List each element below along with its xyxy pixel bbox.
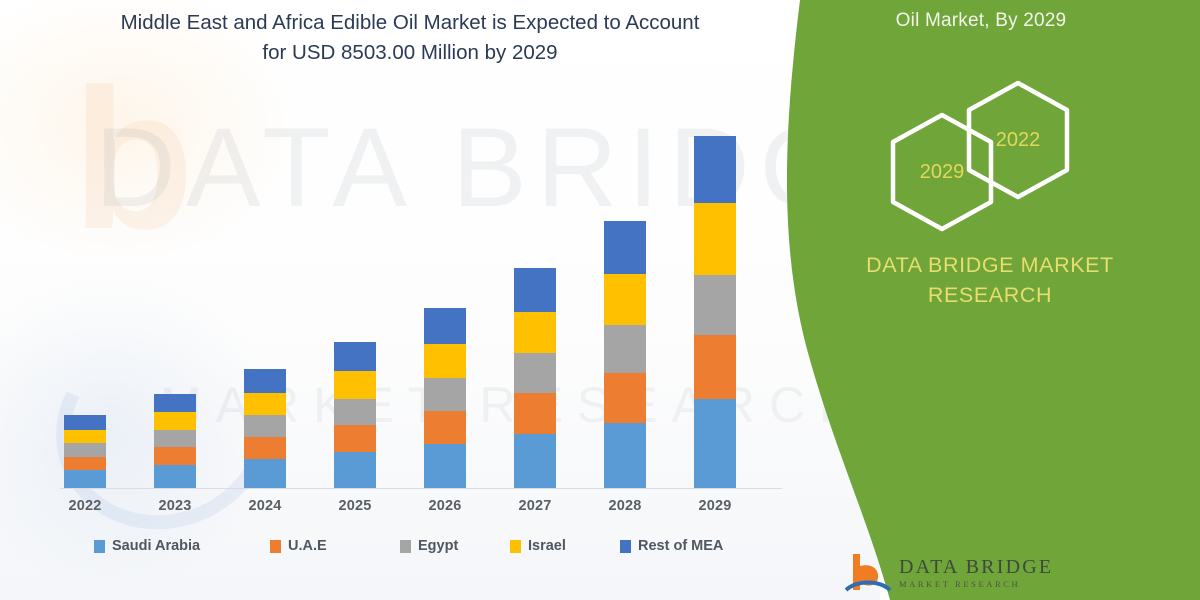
x-label-2028: 2028 <box>585 498 665 514</box>
segment-egypt-2023[interactable] <box>154 430 196 447</box>
chart-title-line2: for USD 8503.00 Million by 2029 <box>40 38 780 68</box>
legend-swatch-icon <box>510 540 521 553</box>
segment-israel-2029[interactable] <box>694 203 736 275</box>
brand-panel: Oil Market, By 2029 2029 2022 DATA BRIDG… <box>780 0 1200 600</box>
segment-rest-of-mea-2027[interactable] <box>514 268 556 312</box>
bar-2027[interactable] <box>514 268 556 488</box>
segment-israel-2028[interactable] <box>604 274 646 324</box>
segment-rest-of-mea-2025[interactable] <box>334 342 376 371</box>
x-axis-labels: 20222023202420252026202720282029 <box>60 498 800 522</box>
segment-rest-of-mea-2029[interactable] <box>694 136 736 203</box>
legend-swatch-icon <box>400 540 411 553</box>
segment-saudi-arabia-2027[interactable] <box>514 434 556 488</box>
segment-rest-of-mea-2024[interactable] <box>244 369 286 393</box>
bar-2023[interactable] <box>154 394 196 488</box>
brand-name: DATA BRIDGE MARKET RESEARCH <box>780 250 1200 310</box>
x-label-2029: 2029 <box>675 498 755 514</box>
segment-egypt-2022[interactable] <box>64 443 106 456</box>
x-label-2022: 2022 <box>45 498 125 514</box>
segment-u-a-e-2023[interactable] <box>154 447 196 465</box>
segment-egypt-2028[interactable] <box>604 325 646 373</box>
segment-saudi-arabia-2026[interactable] <box>424 444 466 488</box>
segment-u-a-e-2029[interactable] <box>694 335 736 399</box>
bar-2025[interactable] <box>334 342 376 488</box>
brand-line-1: DATA BRIDGE MARKET <box>820 250 1160 280</box>
brand-line-2: RESEARCH <box>820 280 1160 310</box>
segment-israel-2025[interactable] <box>334 371 376 398</box>
logo-name: DATA BRIDGE <box>899 557 1053 578</box>
segment-egypt-2029[interactable] <box>694 275 736 335</box>
segment-u-a-e-2024[interactable] <box>244 437 286 459</box>
segment-u-a-e-2022[interactable] <box>64 457 106 471</box>
x-label-2026: 2026 <box>405 498 485 514</box>
infographic-canvas: b DATA BRIDGE MARKET RESEARCH Middle Eas… <box>0 0 1200 600</box>
hexagon-2022-label: 2022 <box>962 78 1074 202</box>
legend-label: Saudi Arabia <box>112 538 200 554</box>
segment-u-a-e-2026[interactable] <box>424 411 466 445</box>
legend-swatch-icon <box>620 540 631 553</box>
segment-egypt-2027[interactable] <box>514 353 556 393</box>
x-label-2025: 2025 <box>315 498 395 514</box>
hexagon-group: 2029 2022 <box>780 90 1200 230</box>
segment-israel-2023[interactable] <box>154 412 196 430</box>
x-label-2024: 2024 <box>225 498 305 514</box>
hexagon-2022: 2022 <box>962 78 1074 202</box>
bar-2022[interactable] <box>64 415 106 488</box>
bar-2026[interactable] <box>424 308 466 488</box>
chart-legend: Saudi ArabiaU.A.EEgyptIsraelRest of MEA <box>60 538 800 564</box>
segment-saudi-arabia-2024[interactable] <box>244 459 286 488</box>
segment-israel-2022[interactable] <box>64 430 106 444</box>
legend-item-u-a-e[interactable]: U.A.E <box>270 538 327 554</box>
segment-rest-of-mea-2026[interactable] <box>424 308 466 344</box>
segment-u-a-e-2027[interactable] <box>514 393 556 434</box>
x-label-2023: 2023 <box>135 498 215 514</box>
segment-saudi-arabia-2028[interactable] <box>604 423 646 488</box>
legend-swatch-icon <box>94 540 105 553</box>
bridge-logo-icon <box>845 550 891 596</box>
company-logo: DATA BRIDGE MARKET RESEARCH <box>845 548 1095 598</box>
segment-u-a-e-2028[interactable] <box>604 373 646 423</box>
segment-u-a-e-2025[interactable] <box>334 425 376 452</box>
x-axis-line <box>60 488 782 489</box>
legend-label: Egypt <box>418 538 458 554</box>
bar-2024[interactable] <box>244 369 286 488</box>
segment-rest-of-mea-2022[interactable] <box>64 415 106 429</box>
logo-tagline: MARKET RESEARCH <box>899 580 1053 589</box>
segment-saudi-arabia-2022[interactable] <box>64 470 106 488</box>
legend-swatch-icon <box>270 540 281 553</box>
segment-israel-2024[interactable] <box>244 393 286 415</box>
bar-series-container <box>60 100 800 488</box>
segment-egypt-2024[interactable] <box>244 415 286 437</box>
legend-item-egypt[interactable]: Egypt <box>400 538 458 554</box>
logo-wordmark: DATA BRIDGE MARKET RESEARCH <box>899 557 1053 589</box>
x-label-2027: 2027 <box>495 498 575 514</box>
legend-label: Israel <box>528 538 566 554</box>
segment-saudi-arabia-2025[interactable] <box>334 452 376 488</box>
segment-saudi-arabia-2029[interactable] <box>694 399 736 488</box>
segment-israel-2027[interactable] <box>514 312 556 353</box>
bar-2029[interactable] <box>694 136 736 488</box>
bar-2028[interactable] <box>604 221 646 488</box>
chart-title: Middle East and Africa Edible Oil Market… <box>40 8 780 68</box>
segment-egypt-2025[interactable] <box>334 399 376 425</box>
legend-item-israel[interactable]: Israel <box>510 538 566 554</box>
segment-rest-of-mea-2028[interactable] <box>604 221 646 274</box>
legend-item-saudi-arabia[interactable]: Saudi Arabia <box>94 538 200 554</box>
chart-title-line1: Middle East and Africa Edible Oil Market… <box>40 8 780 38</box>
panel-title: Oil Market, By 2029 <box>780 10 1200 32</box>
legend-label: Rest of MEA <box>638 538 723 554</box>
segment-israel-2026[interactable] <box>424 344 466 378</box>
segment-egypt-2026[interactable] <box>424 378 466 411</box>
legend-item-rest-of-mea[interactable]: Rest of MEA <box>620 538 723 554</box>
segment-rest-of-mea-2023[interactable] <box>154 394 196 413</box>
legend-label: U.A.E <box>288 538 327 554</box>
segment-saudi-arabia-2023[interactable] <box>154 465 196 488</box>
